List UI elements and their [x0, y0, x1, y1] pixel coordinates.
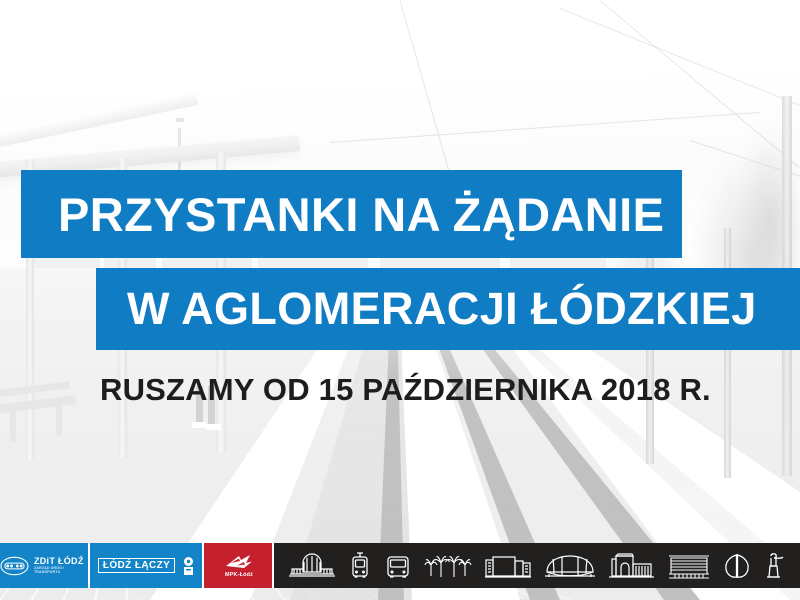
mpk-title: MPK-Łódź	[225, 572, 253, 578]
zdit-subtitle: ZARZĄD DRÓG I TRANSPORTU	[34, 567, 90, 574]
landmark-icons-strip	[274, 543, 800, 588]
poster: PRZYSTANKI NA ŻĄDANIE W AGLOMERACJI ŁÓDZ…	[0, 0, 800, 600]
logo-lodz-laczy[interactable]: ŁÓDŹ ŁĄCZY	[90, 543, 204, 588]
subhead-start-date: RUSZAMY OD 15 PAŹDZIERNIKA 2018 R.	[100, 372, 711, 408]
lodz-laczy-title: ŁÓDŹ ŁĄCZY	[98, 558, 175, 573]
mpk-bird-icon	[224, 553, 254, 570]
logo-mpk-lodz[interactable]: MPK-Łódź	[204, 543, 274, 588]
train-station-hall-icon[interactable]	[288, 552, 336, 580]
striped-building-icon[interactable]	[668, 552, 710, 580]
zdit-emblem-icon	[0, 556, 29, 576]
factory-building-icon[interactable]	[484, 552, 532, 580]
zdit-title: ZDiT ŁÓDŹ	[34, 557, 90, 566]
headline-banner-line-2: W AGLOMERACJI ŁÓDZKIEJ	[96, 268, 800, 350]
headline-banner-line-1: PRZYSTANKI NA ŻĄDANIE	[21, 170, 682, 258]
lodz-city-logo-icon	[181, 555, 196, 577]
bus-icon[interactable]	[384, 551, 412, 581]
film-reel-leaf-icon[interactable]	[722, 551, 752, 581]
logo-divider	[272, 543, 274, 588]
logo-zdit-lodz[interactable]: ZDiT ŁÓDŹ ZARZĄD DRÓG I TRANSPORTU	[0, 543, 90, 588]
footer-logo-bar: ZDiT ŁÓDŹ ZARZĄD DRÓG I TRANSPORTU ŁÓDŹ …	[0, 543, 800, 588]
tram-icon[interactable]	[348, 551, 372, 581]
statue-figure-icon[interactable]	[764, 551, 786, 581]
museum-building-icon[interactable]	[608, 552, 656, 580]
arena-dome-icon[interactable]	[544, 552, 596, 580]
palms-fountain-icon[interactable]	[424, 552, 472, 580]
